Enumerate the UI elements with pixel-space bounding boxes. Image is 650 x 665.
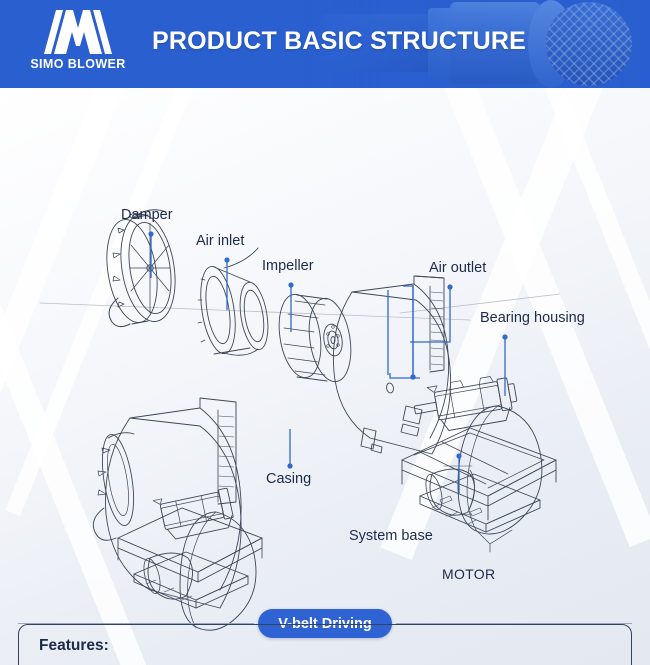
simo-blower-m-mark-icon [42,10,114,54]
bearing-housing-part [411,372,520,436]
assembled-blower-unit [93,398,262,630]
label-impeller: Impeller [262,259,314,274]
casing-part [333,276,450,454]
diagram-area: Damper Air inlet Impeller Air outlet Bea… [0,88,650,665]
page-header: SIMO BLOWER PRODUCT BASIC STRUCTURE [0,0,650,88]
impeller-part [274,291,357,384]
features-heading: Features: [39,637,109,655]
blower-exploded-diagram [0,88,650,665]
label-system-base: System base [349,529,433,544]
page-title: PRODUCT BASIC STRUCTURE [152,27,526,56]
brand-logo[interactable]: SIMO BLOWER [22,10,134,80]
label-air-inlet: Air inlet [196,234,244,249]
damper-part [100,210,182,327]
label-damper: Damper [121,208,173,223]
label-bearing-housing: Bearing housing [480,311,585,326]
system-base-part [402,428,556,532]
label-casing: Casing [266,472,311,487]
label-air-outlet: Air outlet [429,261,486,276]
air-inlet-part [195,248,272,356]
label-motor: MOTOR [442,567,495,581]
product-structure-page: SIMO BLOWER PRODUCT BASIC STRUCTURE [0,0,650,665]
logo-wordmark: SIMO BLOWER [22,57,134,71]
features-box: Features: By changing the diameter of pu… [18,624,632,665]
